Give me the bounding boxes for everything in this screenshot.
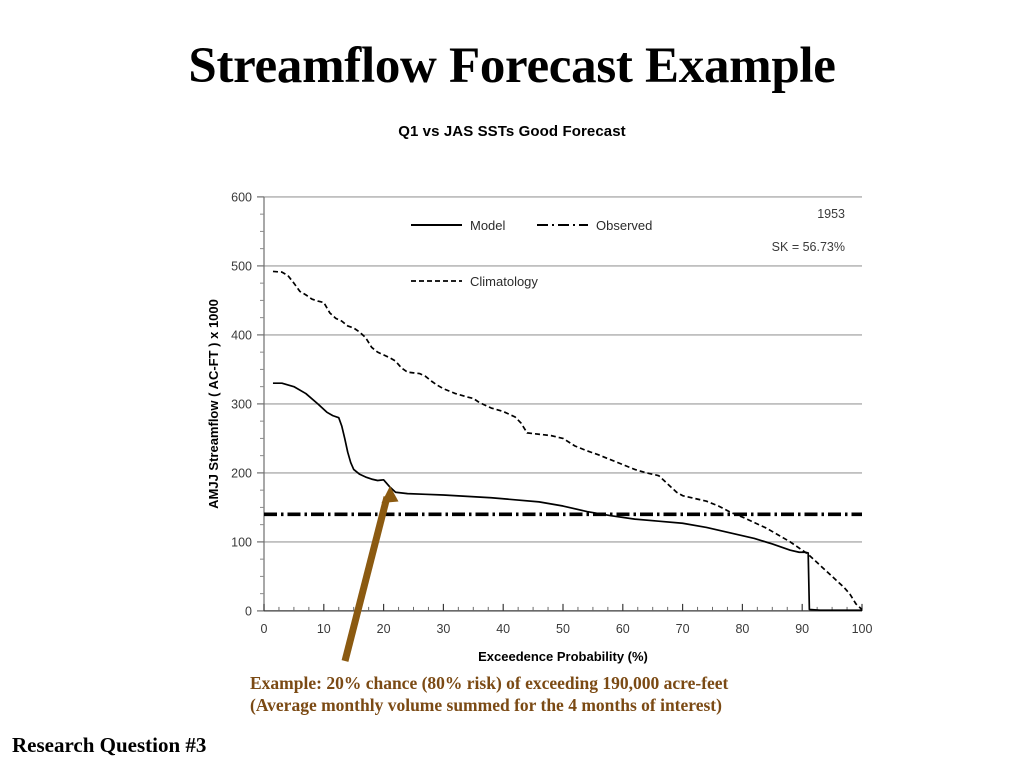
x-tick-label: 60	[616, 622, 630, 636]
x-tick-label: 50	[556, 622, 570, 636]
y-tick-label: 100	[231, 535, 252, 549]
series-line-climatology	[273, 271, 862, 609]
legend-label-model: Model	[470, 218, 506, 233]
y-axis-title: AMJJ Streamflow ( AC-FT ) x 1000	[206, 299, 221, 509]
chart-legend: Model Observed Climatology	[411, 218, 652, 289]
legend-label-observed: Observed	[596, 218, 652, 233]
y-tick-label: 600	[231, 190, 252, 204]
x-tick-label: 90	[795, 622, 809, 636]
data-series-layer	[264, 271, 862, 610]
x-tick-label: 0	[261, 622, 268, 636]
footer-note: Research Question #3	[12, 733, 206, 758]
x-tick-label: 70	[676, 622, 690, 636]
x-tick-label: 40	[496, 622, 510, 636]
streamflow-exceedence-chart: 0100200300400500600 01020304050607080901…	[0, 0, 1024, 768]
y-tick-label: 200	[231, 466, 252, 480]
y-tick-label: 500	[231, 259, 252, 273]
x-tick-label: 100	[852, 622, 873, 636]
chart-skill-note: SK = 56.73%	[772, 240, 845, 254]
caption-line-2: (Average monthly volume summed for the 4…	[250, 694, 950, 716]
example-caption: Example: 20% chance (80% risk) of exceed…	[250, 672, 950, 716]
x-axis-title: Exceedence Probability (%)	[478, 649, 648, 664]
y-tick-label: 400	[231, 328, 252, 342]
chart-plot-area: 0100200300400500600 01020304050607080901…	[0, 0, 1024, 768]
y-major-ticks	[257, 197, 264, 611]
legend-label-climatology: Climatology	[470, 274, 538, 289]
x-tick-label: 30	[436, 622, 450, 636]
y-tick-label: 0	[245, 604, 252, 618]
y-tick-labels: 0100200300400500600	[231, 190, 252, 618]
series-line-model	[273, 383, 862, 610]
y-tick-label: 300	[231, 397, 252, 411]
x-tick-label: 10	[317, 622, 331, 636]
x-tick-label: 80	[735, 622, 749, 636]
caption-line-1: Example: 20% chance (80% risk) of exceed…	[250, 672, 950, 694]
x-tick-label: 20	[377, 622, 391, 636]
chart-year-note: 1953	[817, 207, 845, 221]
